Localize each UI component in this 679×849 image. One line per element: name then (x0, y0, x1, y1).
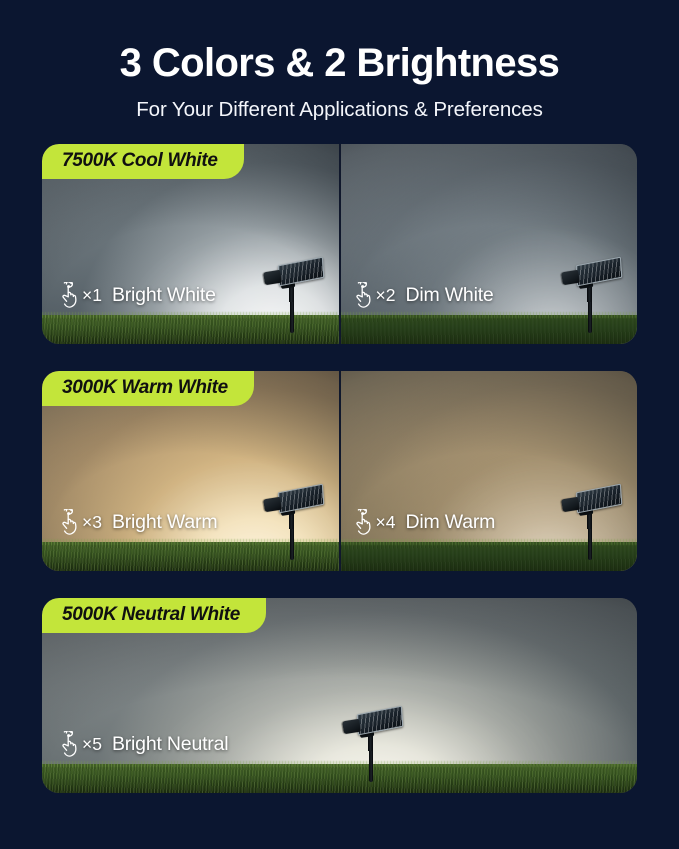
tap-count: ×4 (376, 512, 396, 533)
tap-gesture-icon (57, 509, 80, 535)
color-row-cool-white: 7500K Cool White (42, 144, 637, 344)
mode-label: Dim White (405, 284, 493, 307)
page-subtitle: For Your Different Applications & Prefer… (0, 98, 679, 122)
tap-count: ×2 (376, 285, 396, 306)
tap-count: ×3 (82, 512, 102, 533)
caption-bright-warm: ×3 Bright Warm (57, 509, 217, 535)
tap-gesture-icon (57, 731, 80, 757)
caption-bright-white: ×1 Bright White (57, 282, 216, 308)
header: 3 Colors & 2 Brightness For Your Differe… (0, 0, 679, 122)
badge-warm-white: 3000K Warm White (42, 371, 254, 406)
mode-label: Bright Neutral (112, 733, 228, 756)
grass-strip (42, 542, 339, 571)
color-row-neutral-white: 5000K Neutral White (42, 598, 637, 793)
tap-count: ×1 (82, 285, 102, 306)
panel-dim-white[interactable]: ×2 Dim White (339, 144, 638, 344)
grass-strip (341, 542, 638, 571)
mode-label: Bright White (112, 284, 216, 307)
infographic-page: 3 Colors & 2 Brightness For Your Differe… (0, 0, 679, 849)
tap-gesture-icon (351, 509, 374, 535)
grass-strip (42, 764, 637, 793)
caption-dim-white: ×2 Dim White (351, 282, 494, 308)
grass-strip (341, 315, 638, 344)
color-row-warm-white: 3000K Warm White (42, 371, 637, 571)
panel-dim-warm[interactable]: ×4 Dim Warm (339, 371, 638, 571)
mode-label: Dim Warm (405, 511, 495, 534)
grass-strip (42, 315, 339, 344)
caption-dim-warm: ×4 Dim Warm (351, 509, 496, 535)
caption-bright-neutral: ×5 Bright Neutral (57, 731, 228, 757)
badge-cool-white: 7500K Cool White (42, 144, 244, 179)
tap-count: ×5 (82, 734, 102, 755)
badge-neutral-white: 5000K Neutral White (42, 598, 266, 633)
tap-gesture-icon (351, 282, 374, 308)
mode-label: Bright Warm (112, 511, 217, 534)
tap-gesture-icon (57, 282, 80, 308)
color-mode-rows: 7500K Cool White (42, 122, 637, 793)
page-title: 3 Colors & 2 Brightness (0, 40, 679, 86)
